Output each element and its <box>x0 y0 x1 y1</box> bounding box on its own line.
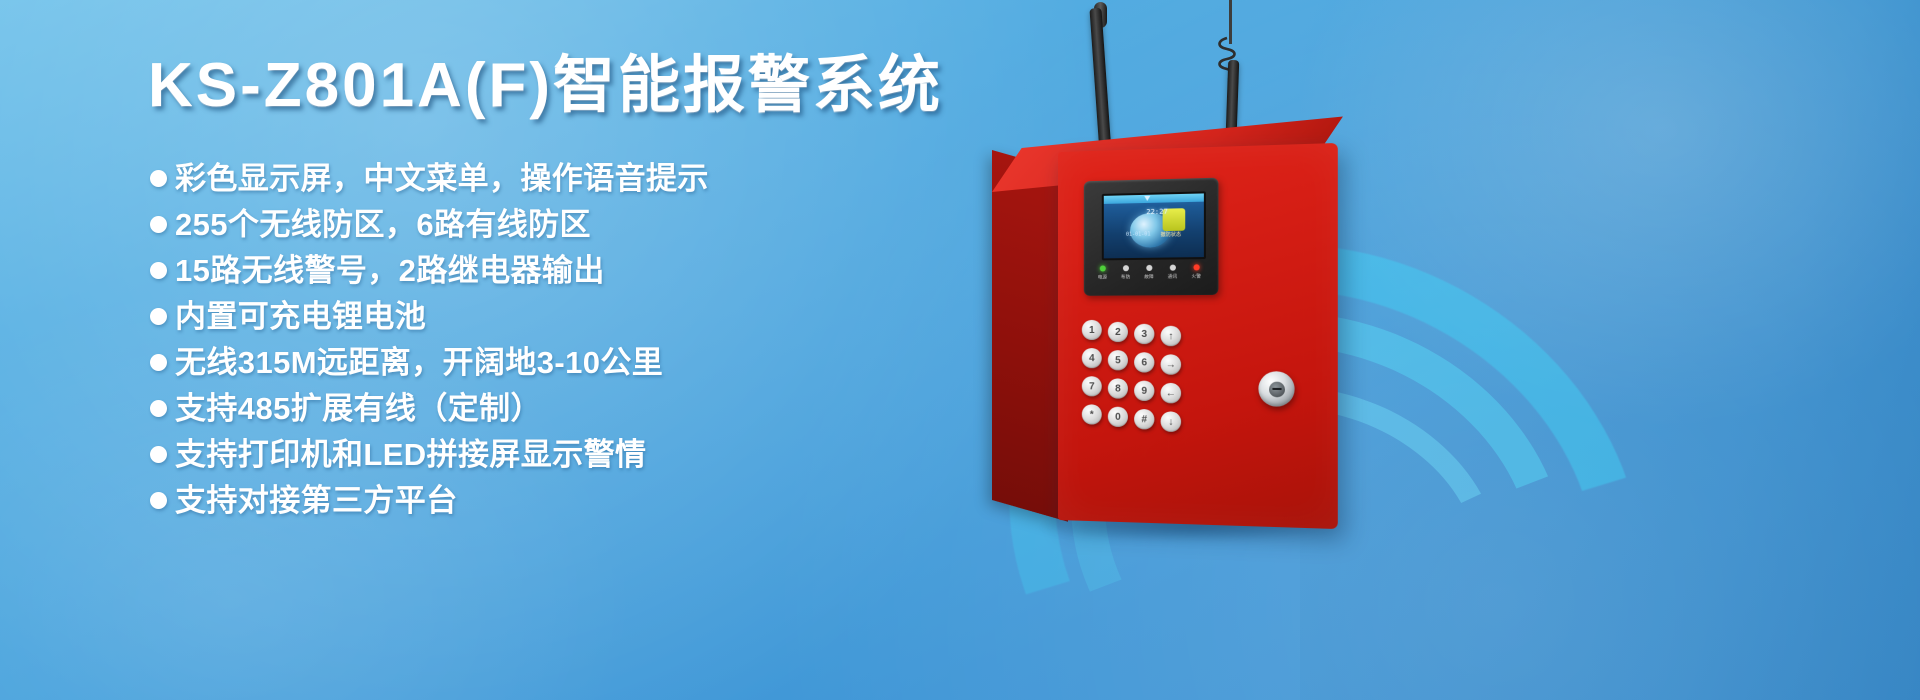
bullet-icon <box>150 354 167 371</box>
key-right[interactable]: → <box>1161 354 1182 374</box>
lcd-date: 01-01-01 <box>1126 231 1150 238</box>
led-fire-label: 火警 <box>1191 273 1201 279</box>
keypad[interactable]: 1 2 3 ↑ 4 5 6 → 7 8 9 ← * 0 # ↓ <box>1082 320 1202 441</box>
lcd-time: 22:27 <box>1146 208 1168 217</box>
key-7[interactable]: 7 <box>1082 376 1102 396</box>
key-5[interactable]: 5 <box>1108 350 1128 370</box>
led-power-label: 电源 <box>1098 274 1107 280</box>
feature-text: 彩色显示屏，中文菜单，操作语音提示 <box>175 156 709 202</box>
feature-item: 15路无线警号，2路继电器输出 <box>150 248 950 294</box>
feature-text: 255个无线防区，6路有线防区 <box>175 202 591 248</box>
indicator-led-row: 电源 布防 故障 通讯 火警 <box>1098 264 1206 287</box>
led-comm-label: 通讯 <box>1168 274 1177 280</box>
feature-item: 支持打印机和LED拼接屏显示警情 <box>150 432 950 478</box>
key-left[interactable]: ← <box>1161 383 1182 404</box>
enclosure-side <box>992 150 1068 522</box>
key-0[interactable]: 0 <box>1108 407 1128 427</box>
feature-item: 无线315M远距离，开阔地3-10公里 <box>150 340 950 386</box>
feature-item: 内置可充电锂电池 <box>150 294 950 340</box>
lock-keyhole <box>1272 388 1282 390</box>
key-2[interactable]: 2 <box>1108 322 1128 342</box>
key-down[interactable]: ↓ <box>1161 411 1182 432</box>
key-9[interactable]: 9 <box>1134 381 1154 401</box>
key-3[interactable]: 3 <box>1134 324 1154 344</box>
lock-core <box>1268 381 1284 397</box>
led-armed-label: 布防 <box>1121 274 1130 280</box>
feature-text: 15路无线警号，2路继电器输出 <box>175 248 605 294</box>
feature-item: 彩色显示屏，中文菜单，操作语音提示 <box>150 156 950 202</box>
key-1[interactable]: 1 <box>1082 320 1102 340</box>
key-star[interactable]: * <box>1082 404 1102 424</box>
led-armed <box>1123 265 1129 271</box>
product-title: KS-Z801A(F)智能报警系统 <box>148 52 943 120</box>
signal-icon <box>1144 196 1150 201</box>
led-fire <box>1194 264 1200 270</box>
lcd-status-text: 撤防状态 <box>1161 231 1182 238</box>
feature-text: 支持对接第三方平台 <box>175 478 458 524</box>
key-4[interactable]: 4 <box>1082 348 1102 368</box>
key-up[interactable]: ↑ <box>1161 326 1182 346</box>
feature-text: 支持485扩展有线（定制） <box>175 386 542 432</box>
bullet-icon <box>150 216 167 233</box>
key-hash[interactable]: # <box>1134 409 1154 430</box>
feature-list: 彩色显示屏，中文菜单，操作语音提示 255个无线防区，6路有线防区 15路无线警… <box>150 156 950 524</box>
product-image: 22:27 01-01-01 撤防状态 电源 布防 故障 通讯 火警 <box>930 0 1490 700</box>
bullet-icon <box>150 308 167 325</box>
bullet-icon <box>150 492 167 509</box>
led-comm <box>1170 265 1176 271</box>
bullet-icon <box>150 262 167 279</box>
key-lock-icon[interactable] <box>1258 371 1294 407</box>
bullet-icon <box>150 170 167 187</box>
bullet-icon <box>150 446 167 463</box>
key-8[interactable]: 8 <box>1108 378 1128 398</box>
feature-text: 支持打印机和LED拼接屏显示警情 <box>175 432 646 478</box>
feature-item: 255个无线防区，6路有线防区 <box>150 202 950 248</box>
led-power <box>1100 265 1106 271</box>
led-fault <box>1146 265 1152 271</box>
promo-banner: KS-Z801A(F)智能报警系统 彩色显示屏，中文菜单，操作语音提示 255个… <box>0 0 1920 700</box>
control-panel: 22:27 01-01-01 撤防状态 电源 布防 故障 通讯 火警 <box>1084 178 1219 296</box>
feature-text: 内置可充电锂电池 <box>175 294 426 340</box>
lcd-screen[interactable]: 22:27 01-01-01 撤防状态 <box>1102 191 1206 260</box>
feature-item: 支持485扩展有线（定制） <box>150 386 950 432</box>
copy-column: KS-Z801A(F)智能报警系统 彩色显示屏，中文菜单，操作语音提示 255个… <box>0 0 960 700</box>
feature-item: 支持对接第三方平台 <box>150 478 950 524</box>
feature-text: 无线315M远距离，开阔地3-10公里 <box>175 340 663 386</box>
key-6[interactable]: 6 <box>1134 352 1154 372</box>
bullet-icon <box>150 400 167 417</box>
led-fault-label: 故障 <box>1144 274 1153 280</box>
lcd-status-bar <box>1104 193 1204 204</box>
enclosure-front: 22:27 01-01-01 撤防状态 电源 布防 故障 通讯 火警 <box>1058 143 1338 529</box>
